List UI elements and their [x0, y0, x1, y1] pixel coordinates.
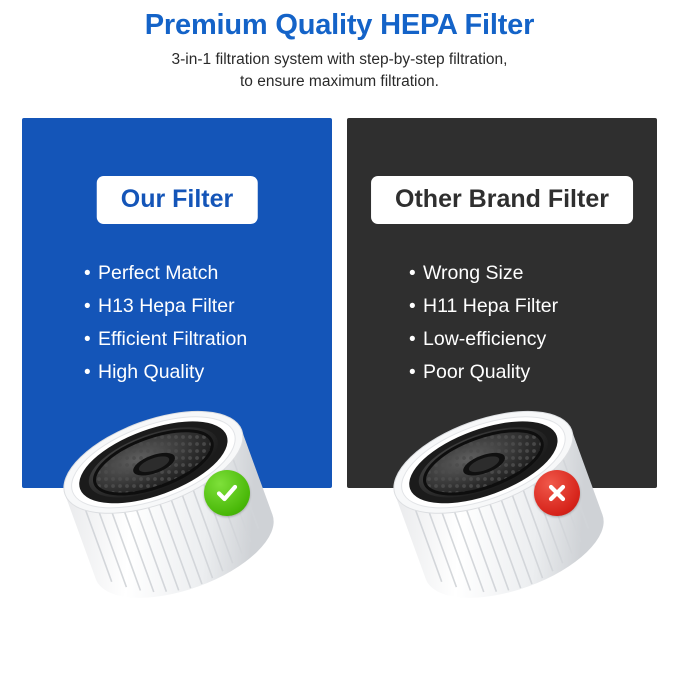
- page-subtitle: 3-in-1 filtration system with step-by-st…: [0, 49, 679, 93]
- bullet-dot-icon: •: [409, 325, 423, 355]
- check-badge: [204, 470, 250, 516]
- list-item-label: Efficient Filtration: [98, 324, 247, 354]
- list-item-label: H11 Hepa Filter: [423, 291, 558, 321]
- header: Premium Quality HEPA Filter 3-in-1 filtr…: [0, 0, 679, 93]
- list-item-label: Low-efficiency: [423, 324, 546, 354]
- hepa-filter-illustration: [378, 380, 638, 640]
- list-item: • Wrong Size: [409, 258, 643, 289]
- badge-label: Other Brand Filter: [395, 185, 609, 213]
- feature-list-other-brand: • Wrong Size • H11 Hepa Filter • Low-eff…: [409, 258, 643, 390]
- bullet-dot-icon: •: [409, 259, 423, 289]
- check-icon: [214, 480, 240, 506]
- comparison-infographic: Premium Quality HEPA Filter 3-in-1 filtr…: [0, 0, 679, 679]
- bullet-dot-icon: •: [84, 259, 98, 289]
- badge-label: Our Filter: [121, 185, 234, 213]
- list-item-label: Perfect Match: [98, 258, 218, 288]
- list-item-label: H13 Hepa Filter: [98, 291, 235, 321]
- list-item: • Efficient Filtration: [84, 324, 318, 355]
- bullet-dot-icon: •: [409, 292, 423, 322]
- product-image-our-filter: [48, 380, 308, 640]
- list-item: • Low-efficiency: [409, 324, 643, 355]
- list-item: • H13 Hepa Filter: [84, 291, 318, 322]
- subtitle-line-1: 3-in-1 filtration system with step-by-st…: [172, 51, 508, 68]
- bullet-dot-icon: •: [84, 292, 98, 322]
- cross-badge: [534, 470, 580, 516]
- feature-list-our-filter: • Perfect Match • H13 Hepa Filter • Effi…: [84, 258, 318, 390]
- list-item: • H11 Hepa Filter: [409, 291, 643, 322]
- page-title: Premium Quality HEPA Filter: [0, 6, 679, 44]
- list-item: • Perfect Match: [84, 258, 318, 289]
- badge-other-brand-filter: Other Brand Filter: [371, 176, 633, 224]
- comparison-panels: Our Filter • Perfect Match • H13 Hepa Fi…: [0, 118, 679, 678]
- bullet-dot-icon: •: [84, 325, 98, 355]
- hepa-filter-illustration: [48, 380, 308, 640]
- subtitle-line-2: to ensure maximum filtration.: [240, 73, 439, 90]
- list-item-label: Wrong Size: [423, 258, 523, 288]
- cross-icon: [545, 481, 569, 505]
- badge-our-filter: Our Filter: [97, 176, 258, 224]
- product-image-other-brand: [378, 380, 638, 640]
